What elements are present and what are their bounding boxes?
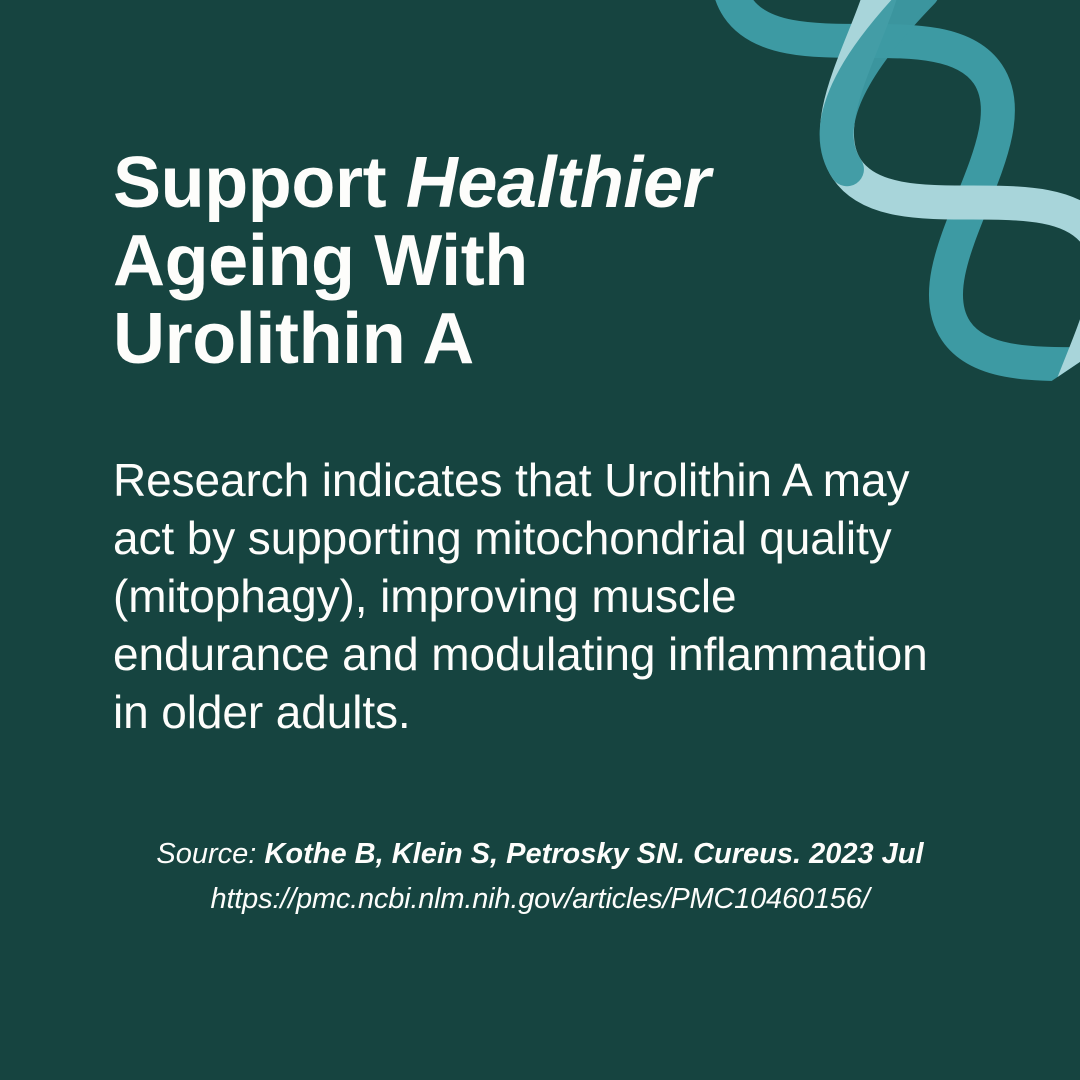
headline-emphasis-word: Healthier xyxy=(406,143,711,223)
headline-line2: Ageing With xyxy=(113,221,528,301)
dna-strand-crossing xyxy=(788,0,981,169)
citation-reference: Kothe B, Klein S, Petrosky SN. Cureus. 2… xyxy=(264,838,923,870)
headline-line1-prefix: Support xyxy=(113,143,406,223)
citation-url[interactable]: https://pmc.ncbi.nlm.nih.gov/articles/PM… xyxy=(211,883,870,915)
citation-label: Source: xyxy=(156,838,264,870)
citation-url-line: https://pmc.ncbi.nlm.nih.gov/articles/PM… xyxy=(0,877,1080,922)
headline: Support HealthierAgeing WithUrolithin A xyxy=(113,144,813,378)
body-paragraph: Research indicates that Urolithin A may … xyxy=(113,451,958,741)
social-graphic-canvas: Support HealthierAgeing WithUrolithin A … xyxy=(0,0,1080,1080)
citation-block: Source: Kothe B, Klein S, Petrosky SN. C… xyxy=(0,832,1080,922)
citation-reference-line: Source: Kothe B, Klein S, Petrosky SN. C… xyxy=(0,832,1080,877)
headline-line3: Urolithin A xyxy=(113,299,474,379)
